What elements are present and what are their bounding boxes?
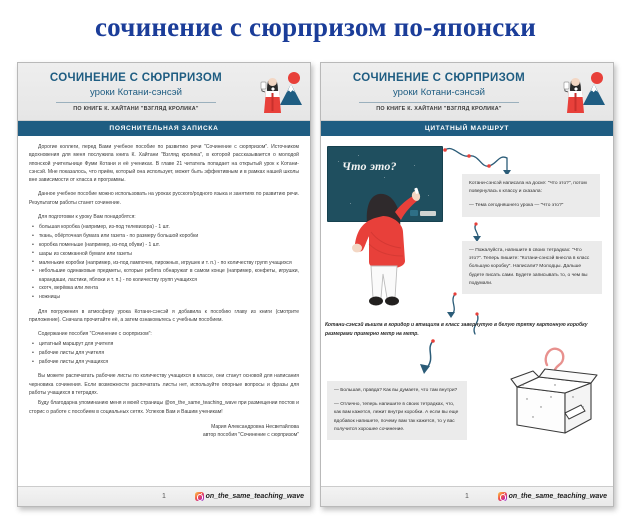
banner-title: сочинение с сюрпризом по-японски bbox=[95, 12, 536, 43]
page-right-header: СОЧИНЕНИЕ С СЮРПРИЗОМ уроки Котани-сэнсэ… bbox=[321, 63, 613, 121]
materials-list: большая коробка (например, из-под телеви… bbox=[29, 223, 299, 301]
japanese-woman-fuji-icon bbox=[254, 69, 304, 117]
callout-3-line-2: — Отлично, теперь напишите в своих тетра… bbox=[334, 401, 460, 434]
page-right[interactable]: СОЧИНЕНИЕ С СЮРПРИЗОМ уроки Котани-сэнсэ… bbox=[320, 62, 614, 507]
instagram-handle: on_the_same_teaching_wave bbox=[509, 493, 607, 500]
instagram-icon bbox=[195, 492, 204, 501]
page-left[interactable]: СОЧИНЕНИЕ С СЮРПРИЗОМ уроки Котани-сэнсэ… bbox=[17, 62, 311, 507]
page-right-title: СОЧИНЕНИЕ С СЮРПРИЗОМ bbox=[321, 71, 557, 85]
paragraph-usage: Данное учебное пособие можно использоват… bbox=[29, 190, 299, 207]
list-item: небольшие одинаковые предметы, которые р… bbox=[29, 267, 299, 284]
instagram-icon bbox=[498, 492, 507, 501]
page-left-footer: 1 on_the_same_teaching_wave bbox=[18, 486, 310, 506]
page-right-body: Что это? bbox=[321, 136, 613, 486]
paragraph-credit: Буду благодарна упоминанию меня и моей с… bbox=[29, 399, 299, 416]
list-item: рабочие листы для учителя bbox=[29, 349, 299, 357]
callout-2-line-1: — Пожалуйста, напишите в своих тетрадках… bbox=[469, 247, 595, 288]
list-item: шары из скомканной бумаги или газеты bbox=[29, 250, 299, 258]
page-left-ribbon-label: ПОЯСНИТЕЛЬНАЯ ЗАПИСКА bbox=[109, 125, 218, 132]
signature-role: автор пособия "Сочинение с сюрпризом" bbox=[29, 431, 299, 439]
banner: сочинение с сюрпризом по-японски bbox=[0, 0, 631, 54]
list-item: маленькие коробки (например, из-под ламп… bbox=[29, 259, 299, 267]
page-right-ribbon: ЦИТАТНЫЙ МАРШРУТ bbox=[321, 121, 613, 136]
list-item: ткань, обёрточная бумага или газета - по… bbox=[29, 232, 299, 240]
page-right-subtitle: уроки Котани-сэнсэй bbox=[321, 86, 557, 99]
page-right-source: ПО КНИГЕ К. ХАЙТАНИ "ВЗГЛЯД КРОЛИКА" bbox=[321, 106, 557, 112]
callout-1-line-2: — Тема сегодняшнего урока — "Что это?" bbox=[469, 202, 593, 210]
callout-1-line-1: Котани-сэнсэй написала на доске: "Что эт… bbox=[469, 180, 593, 196]
list-item: рабочие листы для учащихся bbox=[29, 358, 299, 366]
callout-3-line-1: — Большая, правда? Как вы думаете, что т… bbox=[334, 387, 460, 395]
japanese-woman-fuji-icon bbox=[557, 69, 607, 117]
teacher-illustration bbox=[343, 188, 439, 308]
paragraph-appendix: Для погружения в атмосферу урока Котани-… bbox=[29, 308, 299, 325]
materials-lead: Для подготовки к уроку Вам понадобятся: bbox=[29, 213, 299, 221]
list-item: ножницы bbox=[29, 293, 299, 301]
paragraph-printing: Вы можете распечатать рабочие листы по к… bbox=[29, 372, 299, 397]
page-right-footer: 1 on_the_same_teaching_wave bbox=[321, 486, 613, 506]
page-left-title: СОЧИНЕНИЕ С СЮРПРИЗОМ bbox=[18, 71, 254, 85]
list-item: коробка поменьше (например, из-под обуви… bbox=[29, 241, 299, 249]
callout-quote-1: Котани-сэнсэй написала на доске: "Что эт… bbox=[462, 174, 600, 217]
chalkboard-text: Что это? bbox=[342, 159, 397, 174]
signature-author: Мария Александровна Несветайлова bbox=[29, 423, 299, 431]
instagram-credit[interactable]: on_the_same_teaching_wave bbox=[195, 492, 304, 501]
list-item: цитатный маршрут для учителя bbox=[29, 340, 299, 348]
contents-lead: Содержание пособия "Сочинение с сюрпризо… bbox=[29, 330, 299, 338]
instagram-credit[interactable]: on_the_same_teaching_wave bbox=[498, 492, 607, 501]
cardboard-box-illustration bbox=[503, 341, 603, 439]
list-item: большая коробка (например, из-под телеви… bbox=[29, 223, 299, 231]
page-left-body: Дорогие коллеги, перед Вами учебное посо… bbox=[18, 136, 310, 486]
page-left-ribbon: ПОЯСНИТЕЛЬНАЯ ЗАПИСКА bbox=[18, 121, 310, 136]
page-left-subtitle: уроки Котани-сэнсэй bbox=[18, 86, 254, 99]
list-item: скотч, верёвка или лента bbox=[29, 284, 299, 292]
header-divider bbox=[359, 102, 519, 103]
page-left-source: ПО КНИГЕ К. ХАЙТАНИ "ВЗГЛЯД КРОЛИКА" bbox=[18, 106, 254, 112]
instagram-handle: on_the_same_teaching_wave bbox=[206, 493, 304, 500]
header-divider bbox=[56, 102, 216, 103]
callout-quote-2: — Пожалуйста, напишите в своих тетрадках… bbox=[462, 241, 602, 294]
narration-text: Котани-сэнсэй вышла в коридор и втащила … bbox=[325, 321, 603, 338]
page-right-ribbon-label: ЦИТАТНЫЙ МАРШРУТ bbox=[425, 125, 509, 132]
callout-quote-3: — Большая, правда? Как вы думаете, что т… bbox=[327, 381, 467, 440]
contents-list: цитатный маршрут для учителя рабочие лис… bbox=[29, 340, 299, 366]
page-left-header: СОЧИНЕНИЕ С СЮРПРИЗОМ уроки Котани-сэнсэ… bbox=[18, 63, 310, 121]
paragraph-intro: Дорогие коллеги, перед Вами учебное посо… bbox=[29, 143, 299, 184]
screenshot-root: сочинение с сюрпризом по-японски СОЧИНЕН… bbox=[0, 0, 631, 532]
